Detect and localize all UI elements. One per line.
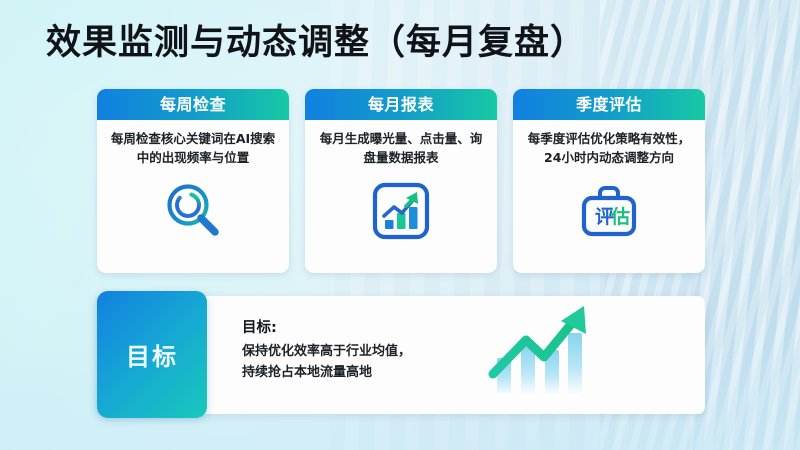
goal-tile-label: 目标 — [126, 337, 178, 372]
card-group: 每周检查 每周检查核心关键词在AI搜索中的出现频率与位置 — [97, 89, 705, 273]
card-monthly-report[interactable]: 每月报表 每月生成曝光量、点击量、询盘量数据报表 — [305, 89, 497, 273]
card-weekly-check-header: 每周检查 — [97, 89, 289, 120]
card-weekly-check[interactable]: 每周检查 每周检查核心关键词在AI搜索中的出现频率与位置 — [97, 89, 289, 273]
card-weekly-check-description: 每周检查核心关键词在AI搜索中的出现频率与位置 — [109, 129, 277, 168]
goal-tile[interactable]: 目标 — [97, 291, 207, 418]
svg-text:估: 估 — [610, 205, 630, 228]
card-quarterly-review-description: 每季度评估优化策略有效性，24小时内动态调整方向 — [525, 129, 693, 168]
upward-trend-arrow-icon — [483, 300, 593, 396]
background-skyscraper-far-right — [690, 0, 800, 450]
briefcase-assessment-icon: 评 估 — [525, 174, 693, 248]
goal-line-2: 持续抢占本地流量高地 — [242, 362, 472, 383]
magnifying-glass-icon — [109, 174, 277, 248]
card-monthly-report-body: 每月生成曝光量、点击量、询盘量数据报表 — [305, 120, 497, 273]
slide-root: 效果监测与动态调整（每月复盘） 每周检查 每周检查核心关键词在AI搜索中的出现频… — [0, 0, 800, 450]
bar-chart-growth-icon — [317, 174, 485, 248]
card-quarterly-review[interactable]: 季度评估 每季度评估优化策略有效性，24小时内动态调整方向 评 估 — [513, 89, 705, 273]
card-weekly-check-body: 每周检查核心关键词在AI搜索中的出现频率与位置 — [97, 120, 289, 273]
card-quarterly-review-body: 每季度评估优化策略有效性，24小时内动态调整方向 评 估 — [513, 120, 705, 273]
card-monthly-report-header: 每月报表 — [305, 89, 497, 120]
goal-line-1: 保持优化效率高于行业均值， — [242, 341, 472, 362]
goal-text-block: 目标: 保持优化效率高于行业均值， 持续抢占本地流量高地 — [242, 316, 472, 383]
card-quarterly-review-header: 季度评估 — [513, 89, 705, 120]
goal-heading: 目标: — [242, 316, 472, 337]
page-title: 效果监测与动态调整（每月复盘） — [46, 14, 586, 65]
card-monthly-report-description: 每月生成曝光量、点击量、询盘量数据报表 — [317, 129, 485, 168]
